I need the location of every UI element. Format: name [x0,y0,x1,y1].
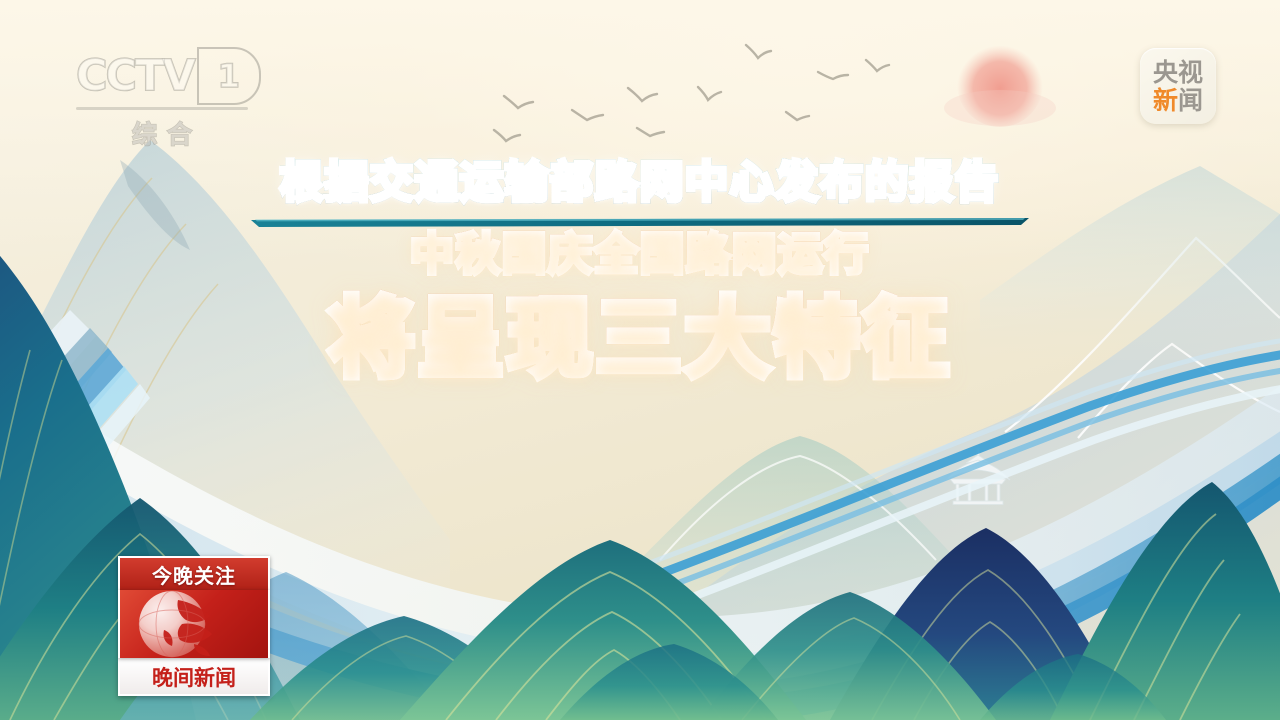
cctv-channel-number: 1 [197,47,261,105]
cctv-news-badge: 央 视 新 闻 [1140,48,1216,124]
headline-emphasis: 将呈现三大特征 [0,287,1280,391]
cctv-channel-logo: CCTV 1 综合 [76,47,261,151]
cctv-logo-row: CCTV 1 [76,47,261,105]
news-badge-char-shi: 视 [1178,59,1203,86]
headline-subject-text: 中秋国庆全国路网运行 [410,229,870,280]
headline-kicker: 根据交通运输部路网中心发布的报告 [280,155,1000,211]
headline-emphasis-text: 将呈现三大特征 [329,289,952,389]
broadcast-frame: 根据交通运输部路网中心发布的报告 中秋国庆全国路网运行 [0,0,1280,720]
program-segment-label: 今晚关注 [118,556,270,590]
headline-kicker-text: 根据交通运输部路网中心发布的报告 [280,158,1000,208]
news-badge-char-xin: 新 [1153,87,1178,114]
headline-kicker-underline [251,218,1029,227]
headline-subject: 中秋国庆全国路网运行 [0,225,1280,285]
program-badge: 今晚关注 [118,556,270,696]
cctv-channel-subtitle: 综合 [76,115,248,151]
headline-block: 根据交通运输部路网中心发布的报告 中秋国庆全国路网运行 [0,155,1280,391]
news-badge-char-yang: 央 [1153,59,1178,86]
red-globe-svg [120,590,268,658]
program-name: 晚间新闻 [118,658,270,696]
program-segment-label-text: 今晚关注 [152,560,236,589]
cctv-wordmark: CCTV [76,51,194,101]
news-badge-row-bottom: 新 闻 [1153,87,1203,114]
program-name-text: 晚间新闻 [152,662,236,692]
red-globe-icon [118,590,270,658]
news-badge-row-top: 央 视 [1153,59,1203,86]
cctv-logo-divider [76,107,248,110]
news-badge-char-wen: 闻 [1178,87,1203,114]
